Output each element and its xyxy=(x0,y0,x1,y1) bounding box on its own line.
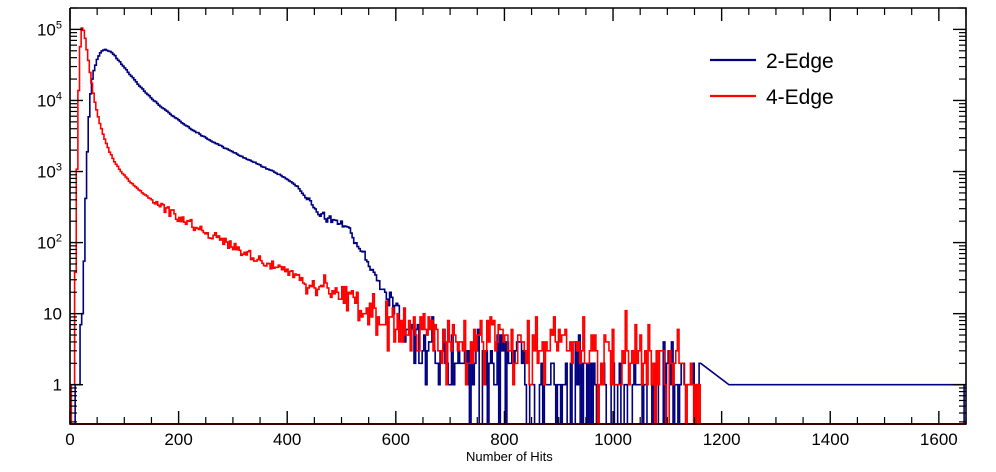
x-axis-tick-labels: 02004006008001000120014001600 xyxy=(65,430,957,449)
y-tick-label: 105 xyxy=(37,19,62,39)
chart-canvas: 1101021031041050200400600800100012001400… xyxy=(0,0,996,472)
x-axis-title: Number of Hits xyxy=(466,449,553,464)
x-tick-label: 1000 xyxy=(594,430,632,449)
legend-label-2-edge: 2-Edge xyxy=(766,50,834,73)
x-tick-label: 600 xyxy=(382,430,410,449)
series-line-4-edge xyxy=(71,28,700,424)
x-tick-label: 1400 xyxy=(811,430,849,449)
y-tick-label: 10 xyxy=(43,305,62,324)
x-tick-label: 0 xyxy=(65,430,74,449)
x-tick-label: 1600 xyxy=(920,430,958,449)
legend: 2-Edge4-Edge xyxy=(710,50,834,109)
histogram-plot: 1101021031041050200400600800100012001400… xyxy=(0,0,996,472)
x-tick-label: 800 xyxy=(490,430,518,449)
y-tick-label: 103 xyxy=(37,162,62,182)
x-tick-label: 200 xyxy=(164,430,192,449)
x-tick-label: 400 xyxy=(273,430,301,449)
y-tick-label: 104 xyxy=(37,90,62,110)
x-tick-label: 1200 xyxy=(703,430,741,449)
legend-label-4-edge: 4-Edge xyxy=(766,86,834,109)
y-tick-label: 1 xyxy=(53,376,62,395)
y-axis-tick-labels: 110102103104105 xyxy=(37,19,62,394)
y-tick-label: 102 xyxy=(37,233,62,253)
